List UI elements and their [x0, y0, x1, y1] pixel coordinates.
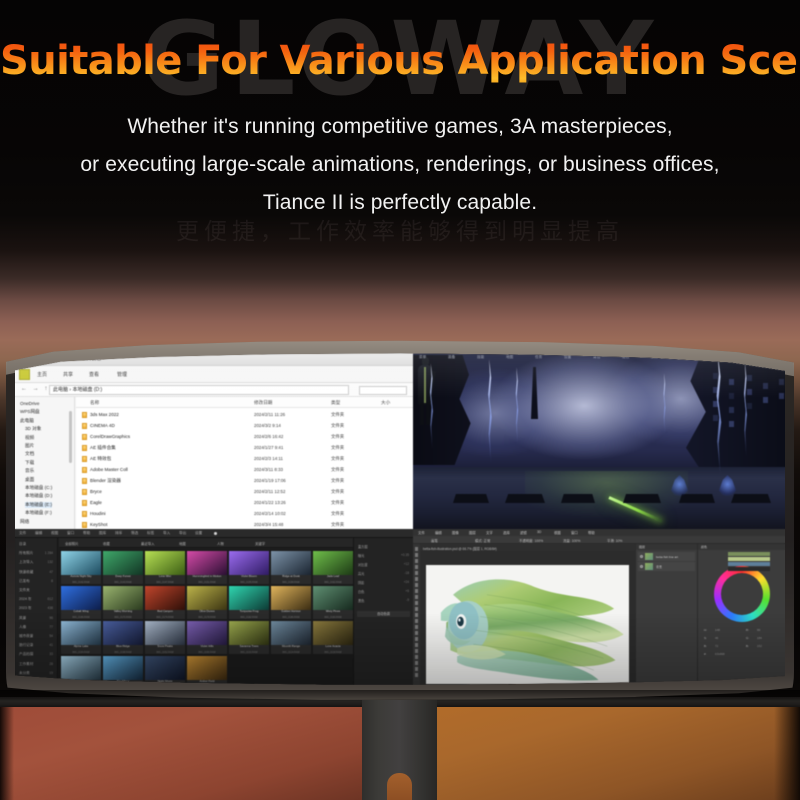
file-name: AE 插件合集	[90, 445, 116, 451]
color-panel[interactable]: 颜色 H:148S:46B:72R:99G:184B:152#:63b898	[697, 544, 785, 686]
thumbnail-filename: IMG_0166.RAW	[61, 616, 101, 619]
thumbnail-image	[187, 656, 227, 680]
media-sidebar-item-5[interactable]: 文件夹	[19, 588, 30, 593]
color-field-value-4[interactable]: 184	[757, 636, 762, 640]
list-item[interactable]: Deep ForestIMG_0143.RAW	[103, 551, 143, 584]
list-item[interactable]: Savanna TreesIMG_0210.RAW	[229, 621, 269, 654]
media-sidebar-item-2[interactable]: 上次导入	[19, 560, 33, 565]
building-window	[713, 373, 718, 379]
editor-menu-item-10[interactable]: 帮助	[588, 530, 595, 535]
tool-icon-2[interactable]	[415, 559, 419, 563]
color-slider-0[interactable]	[728, 552, 770, 556]
layers-panel[interactable]: 图层 betta fish line art背景	[635, 544, 697, 686]
color-slider-3[interactable]	[728, 567, 770, 571]
tool-icon-3[interactable]	[415, 565, 419, 569]
media-sidebar-item-3[interactable]: 快速收藏	[19, 570, 33, 575]
media-sidebar-item-14[interactable]: 未分类	[19, 671, 30, 676]
thumbnail-image	[145, 656, 185, 680]
tool-icon-9[interactable]	[415, 601, 419, 605]
table-row[interactable]: 3ds Max 20222024/2/11 11:26文件夹	[76, 409, 413, 420]
thumbnail-filename: IMG_0182.RAW	[229, 616, 269, 619]
file-date: 2024/2/6 16:42	[254, 434, 283, 439]
thumbnail-caption: Aurora Night Sky	[62, 575, 100, 578]
media-menu-item-0[interactable]: 文件	[19, 531, 26, 536]
editor-document-tab[interactable]: betta-fish-illustration.psd @ 66.7% (图层 …	[419, 544, 635, 551]
editor-option-2[interactable]: 不透明度: 100%	[519, 538, 543, 543]
thumbnail-image	[145, 551, 185, 575]
folder-icon	[82, 456, 87, 462]
media-sidebar-item-10[interactable]: 城市夜景	[19, 634, 33, 639]
color-field-value-0[interactable]: 148	[715, 628, 720, 632]
sidebar-item-6[interactable]: 文档	[25, 451, 34, 457]
auto-tone-button[interactable]: 自动色调	[357, 611, 410, 617]
thumbnail-filename: IMG_0142.RAW	[61, 581, 101, 584]
building-window	[763, 397, 768, 403]
explorer-ribbon[interactable]: 主页 共享 查看 管理	[15, 366, 413, 383]
list-item[interactable]: Lime MistIMG_0147.RAW	[145, 551, 185, 584]
tool-icon-15[interactable]	[415, 637, 419, 641]
media-sidebar-count-14: 19	[49, 671, 53, 675]
explorer-sidebar-scrollbar[interactable]	[69, 411, 72, 463]
file-name: Houdini	[90, 511, 106, 516]
editor-toolbar[interactable]	[413, 544, 420, 686]
list-item[interactable]: Lone AcaciaIMG_0218.RAW	[313, 621, 353, 654]
tool-icon-21[interactable]	[415, 673, 419, 677]
sidebar-item-9[interactable]: 桌面	[25, 477, 34, 483]
editor-menu-item-6[interactable]: 滤镜	[520, 530, 527, 535]
adjust-label-5: 白色	[358, 589, 364, 594]
game-menu-item-3[interactable]: 地图	[506, 355, 513, 360]
media-sidebar-item-12[interactable]: 产品拍摄	[19, 652, 33, 657]
thumbnail-filename: IMG_0158.RAW	[271, 581, 311, 584]
color-panel-header: 颜色	[698, 544, 785, 550]
ground-barrier	[561, 494, 595, 503]
media-toolbar-btn-1[interactable]: 收藏	[103, 541, 110, 546]
tool-icon-12[interactable]	[415, 619, 419, 623]
media-menu-item-5[interactable]: 图库	[99, 531, 106, 536]
column-size[interactable]: 大小	[381, 400, 390, 406]
media-sidebar-item-9[interactable]: 人像	[19, 625, 26, 630]
table-row[interactable]: CINEMA 4D2024/3/2 9:14文件夹	[76, 420, 413, 431]
column-type[interactable]: 类型	[331, 400, 340, 406]
building-window	[729, 379, 734, 385]
list-item[interactable]: Night ShoreIMG_0230.RAW	[145, 656, 185, 686]
color-field-value-2[interactable]: 72	[715, 644, 718, 648]
wall-lower-right	[437, 700, 800, 800]
explorer-file-menu-icon[interactable]	[19, 369, 30, 380]
thumbnail-image	[103, 621, 143, 645]
table-row[interactable]: Bryce2024/2/11 12:52文件夹	[76, 486, 413, 497]
file-date: 2024/2/11 11:26	[254, 412, 285, 417]
table-row[interactable]: CorelDrawGraphics2024/2/6 16:42文件夹	[76, 431, 413, 442]
media-menu-item-11[interactable]: 设置	[195, 531, 202, 536]
editor-menu-item-9[interactable]: 窗口	[571, 530, 578, 535]
media-menu-item-6[interactable]: 排序	[115, 531, 122, 536]
file-date: 2024/2/14 10:02	[254, 511, 286, 516]
media-sidebar-count-10: 54	[49, 634, 53, 638]
list-item[interactable]: Moonlit RangeIMG_0214.RAW	[271, 621, 311, 654]
layer-thumbnail	[645, 553, 653, 560]
game-window[interactable]: 菜单装备技能地图任务设置背包角色队伍商店系统退出	[413, 353, 785, 529]
media-sidebar-count-2: 132	[47, 560, 53, 564]
thumbnail-image	[271, 586, 311, 610]
thumbnail-image	[229, 621, 269, 645]
game-menu-item-4[interactable]: 任务	[535, 355, 542, 360]
sidebar-item-2[interactable]: 此电脑	[20, 418, 34, 424]
list-item[interactable]: Hummingbird in MotionIMG_0151.RAW	[187, 551, 227, 584]
media-menubar[interactable]: 文件编辑视图窗口帮助图库排序筛选标签导入导出设置	[15, 529, 413, 538]
tool-icon-17[interactable]	[415, 649, 419, 653]
game-ground-glow	[525, 471, 689, 529]
color-slider-1[interactable]	[728, 557, 770, 561]
layer-name: 背景	[656, 565, 662, 569]
layer-row[interactable]: 背景	[638, 562, 695, 571]
media-menu-item-7[interactable]: 筛选	[131, 531, 138, 536]
file-date: 2024/1/19 17:06	[254, 478, 286, 483]
ribbon-tab-1[interactable]: 共享	[63, 371, 73, 378]
tool-icon-7[interactable]	[415, 589, 419, 593]
editor-menubar[interactable]: 文件编辑图像图层文字选择滤镜3D视图窗口帮助	[413, 529, 785, 536]
media-thumbnail-grid[interactable]: Aurora Night SkyIMG_0142.RAWDeep ForestI…	[59, 549, 353, 686]
table-row[interactable]: AE 特效包2024/2/3 14:11文件夹	[76, 453, 413, 464]
file-type: 文件夹	[331, 489, 344, 495]
table-row[interactable]: KeyShot2024/3/4 15:48文件夹	[76, 519, 413, 529]
list-item[interactable]: Amber FieldIMG_0234.RAW	[187, 656, 227, 686]
file-name: Blender 渲染器	[90, 478, 121, 484]
thumbnail-image	[271, 551, 311, 575]
list-item[interactable]: Olive DunesIMG_0178.RAW	[187, 586, 227, 619]
tool-icon-4[interactable]	[415, 571, 419, 575]
list-item[interactable]: Red CanyonIMG_0174.RAW	[145, 586, 185, 619]
adjust-value-5: +6	[405, 589, 409, 593]
layers-panel-header: 图层	[636, 544, 697, 550]
media-sidebar-item-0[interactable]: 目录	[19, 542, 26, 547]
color-field-value-6[interactable]: 63b898	[715, 652, 725, 656]
thumbnail-image	[145, 621, 185, 645]
media-sidebar-count-7: 438	[47, 606, 53, 610]
file-name: KeyShot	[90, 522, 107, 527]
file-name: Eagle	[90, 500, 102, 505]
tool-icon-16[interactable]	[415, 643, 419, 647]
media-sidebar-item-13[interactable]: 工作素材	[19, 662, 33, 667]
editor-option-1[interactable]: 模式: 正常	[475, 538, 490, 543]
tool-icon-14[interactable]	[415, 631, 419, 635]
tool-icon-13[interactable]	[415, 625, 419, 629]
list-item[interactable]: Alpine LakeIMG_0194.RAW	[61, 621, 101, 654]
folder-icon	[82, 489, 87, 495]
table-row[interactable]: AE 插件合集2024/1/27 9:41文件夹	[76, 442, 413, 453]
list-item[interactable]: Aurora Night SkyIMG_0142.RAW	[61, 551, 101, 584]
thumbnail-caption: Violet Hills	[188, 645, 226, 648]
sidebar-item-11[interactable]: 本地磁盘 (D:)	[25, 493, 52, 499]
layer-visibility-icon[interactable]	[640, 555, 643, 558]
tool-icon-10[interactable]	[415, 607, 419, 611]
page-subtitle: Whether it's running competitive games, …	[0, 108, 800, 222]
color-slider-2[interactable]	[728, 562, 770, 566]
sidebar-item-3[interactable]: 3D 对象	[25, 426, 41, 432]
building-window	[779, 393, 784, 399]
table-row[interactable]: Blender 渲染器2024/1/19 17:06文件夹	[76, 475, 413, 486]
editor-option-0[interactable]: 画笔	[431, 538, 438, 543]
list-item[interactable]: Ridge at DuskIMG_0158.RAW	[271, 551, 311, 584]
adjust-value-2: +12	[404, 562, 409, 566]
media-sidebar[interactable]: 目录所有照片1 284上次导入132快速收藏47已发布8文件夹2024 年612…	[15, 538, 58, 686]
layer-row[interactable]: betta fish line art	[638, 552, 695, 561]
file-type: 文件夹	[331, 423, 344, 429]
thumbnail-caption: Golden Horizon	[272, 610, 310, 613]
editor-menu-item-7[interactable]: 3D	[537, 530, 541, 534]
thumbnail-image	[313, 621, 353, 645]
file-type: 文件夹	[331, 434, 344, 440]
file-type: 文件夹	[331, 412, 344, 418]
list-item[interactable]: Misty PinesIMG_0190.RAW	[313, 586, 353, 619]
table-row[interactable]: Adobe Master Coll2024/3/11 8:33文件夹	[76, 464, 413, 475]
tool-icon-19[interactable]	[415, 661, 419, 665]
media-toolbar-btn-4[interactable]: 人物	[217, 541, 224, 546]
media-sidebar-item-7[interactable]: 2023 年	[19, 606, 32, 611]
media-adjust-panel[interactable]: 直方图曝光+0.35对比度+12高光-18阴影+24白色+6黑色-9自动色调	[353, 538, 413, 686]
file-name: AE 特效包	[90, 456, 111, 462]
thumbnail-caption: Jade Leaf	[314, 575, 352, 578]
media-toolbar-btn-2[interactable]: 最近导入	[141, 541, 155, 546]
explorer-column-headers[interactable]: 名称 修改日期 类型 大小	[76, 397, 413, 408]
media-sidebar-count-9: 77	[49, 625, 53, 629]
folder-icon	[82, 500, 87, 506]
thumbnail-filename: IMG_0186.RAW	[271, 616, 311, 619]
file-type: 文件夹	[331, 445, 344, 451]
list-item[interactable]: Golden HorizonIMG_0186.RAW	[271, 586, 311, 619]
media-sidebar-item-4[interactable]: 已发布	[19, 579, 30, 584]
curved-ultrawide-monitor: 此电脑 > 本地磁盘 (D:) > 软件安装包 主页 共享 查看 管理 ← → …	[6, 340, 794, 702]
file-explorer-window[interactable]: 此电脑 > 本地磁盘 (D:) > 软件安装包 主页 共享 查看 管理 ← → …	[15, 353, 413, 529]
editor-menu-item-4[interactable]: 文字	[486, 530, 493, 535]
editor-option-4[interactable]: 平滑: 10%	[607, 538, 622, 543]
media-sidebar-count-13: 28	[49, 662, 53, 666]
media-toolbar-btn-0[interactable]: 全部照片	[65, 541, 79, 546]
tool-icon-6[interactable]	[415, 583, 419, 587]
list-item[interactable]: Jade LeafIMG_0162.RAW	[313, 551, 353, 584]
color-triangle-icon[interactable]	[726, 577, 756, 611]
column-date[interactable]: 修改日期	[254, 400, 272, 406]
media-sidebar-item-8[interactable]: 风景	[19, 616, 26, 621]
list-item[interactable]: Turquoise FrogIMG_0182.RAW	[229, 586, 269, 619]
breadcrumb[interactable]: 此电脑 › 本地磁盘 (D:)	[53, 386, 102, 393]
folder-icon	[82, 412, 87, 418]
sidebar-item-13[interactable]: 本地磁盘 (F:)	[25, 510, 52, 516]
media-menu-item-9[interactable]: 导入	[163, 531, 170, 536]
file-name: Adobe Master Coll	[90, 467, 128, 472]
thumbnail-image	[187, 551, 227, 575]
wall-lower-left	[0, 700, 362, 800]
color-wheel-icon[interactable]	[714, 566, 770, 622]
list-item[interactable]: Blue RidgeIMG_0198.RAW	[103, 621, 143, 654]
tool-icon-20[interactable]	[415, 667, 419, 671]
folder-icon	[82, 445, 87, 451]
thumbnail-caption: Turquoise Frog	[230, 610, 268, 613]
sidebar-item-0[interactable]: OneDrive	[20, 401, 39, 406]
folder-icon	[82, 478, 87, 484]
explorer-nav-buttons[interactable]: ← → ↑	[21, 386, 49, 392]
thumbnail-filename: IMG_0202.RAW	[145, 651, 185, 654]
thumbnail-image	[313, 551, 353, 575]
file-date: 2024/1/27 9:41	[254, 445, 283, 450]
media-menu-item-8[interactable]: 标签	[147, 531, 154, 536]
thumbnail-filename: IMG_0162.RAW	[313, 581, 353, 584]
building-window	[713, 401, 718, 407]
list-item[interactable]: Valley MorningIMG_0170.RAW	[103, 586, 143, 619]
media-sidebar-item-1[interactable]: 所有照片	[19, 551, 33, 556]
file-name: CorelDrawGraphics	[90, 434, 130, 439]
list-item[interactable]: Violet HillsIMG_0206.RAW	[187, 621, 227, 654]
thumbnail-caption: Valley Morning	[104, 610, 142, 613]
color-field-label-5: B:	[746, 644, 749, 648]
sidebar-item-1[interactable]: WPS网盘	[20, 409, 40, 415]
list-item[interactable]: Snow PeaksIMG_0202.RAW	[145, 621, 185, 654]
thumbnail-image	[103, 551, 143, 575]
thumbnail-caption: Red Canyon	[146, 610, 184, 613]
sidebar-item-14[interactable]: 网络	[20, 519, 29, 525]
list-item[interactable]: Violet BloomIMG_0155.RAW	[229, 551, 269, 584]
thumbnail-filename: IMG_0218.RAW	[313, 651, 353, 654]
editor-menu-item-5[interactable]: 选择	[503, 530, 510, 535]
thumbnail-caption: Ridge at Dusk	[272, 575, 310, 578]
search-input[interactable]	[359, 386, 407, 395]
media-library-window[interactable]: 文件编辑视图窗口帮助图库排序筛选标签导入导出设置 目录所有照片1 284上次导入…	[15, 529, 413, 686]
editor-menu-item-2[interactable]: 图像	[452, 530, 459, 535]
file-date: 2024/3/2 9:14	[254, 423, 281, 428]
ghost-chinese-text: 更便捷，工作效率能够得到明显提高	[0, 212, 800, 246]
stand-cable-hole	[387, 773, 412, 800]
media-sidebar-count-12: 33	[49, 652, 53, 656]
layer-visibility-icon[interactable]	[640, 565, 643, 568]
color-field-label-4: G:	[746, 636, 749, 640]
betta-fish-artwork	[426, 565, 629, 684]
ribbon-tab-0[interactable]: 主页	[37, 371, 47, 378]
building-window	[729, 407, 734, 413]
table-row[interactable]: Eagle2024/1/22 13:26文件夹	[76, 497, 413, 508]
list-item[interactable]: Cobalt WingIMG_0166.RAW	[61, 586, 101, 619]
media-menu-item-1[interactable]: 编辑	[35, 531, 42, 536]
folder-icon	[82, 434, 87, 440]
ribbon-tab-2[interactable]: 查看	[89, 371, 99, 378]
thumbnail-image	[145, 586, 185, 610]
game-menu-item-0[interactable]: 菜单	[419, 355, 426, 360]
thumbnail-filename: IMG_0147.RAW	[145, 581, 185, 584]
table-row[interactable]: Houdini2024/2/14 10:02文件夹	[76, 508, 413, 519]
media-sidebar-item-11[interactable]: 旅行记录	[19, 643, 33, 648]
media-toolbar-btn-3[interactable]: 地图	[179, 541, 186, 546]
editor-options-bar[interactable]: 画笔模式: 正常不透明度: 100%流量: 100%平滑: 10%	[413, 536, 785, 544]
thumbnail-filename: IMG_0210.RAW	[229, 651, 269, 654]
media-menu-item-3[interactable]: 窗口	[67, 531, 74, 536]
thumbnail-image	[61, 656, 101, 680]
thumbnail-image	[271, 621, 311, 645]
editor-canvas-area[interactable]	[420, 551, 635, 686]
file-date: 2024/2/3 14:11	[254, 456, 283, 461]
layers-panel-title: 图层	[639, 545, 645, 549]
color-field-label-2: B:	[704, 644, 707, 648]
thumbnail-caption: Savanna Trees	[230, 645, 268, 648]
media-sidebar-count-3: 47	[49, 570, 53, 574]
media-toolbar-btn-5[interactable]: 关键字	[255, 541, 265, 546]
tool-icon-11[interactable]	[415, 613, 419, 617]
color-field-value-1[interactable]: 46	[715, 636, 718, 640]
file-name: CINEMA 4D	[90, 423, 115, 428]
thumbnail-image	[103, 656, 143, 680]
thumbnail-filename: IMG_0151.RAW	[187, 581, 227, 584]
thumbnail-image	[229, 551, 269, 575]
thumbnail-caption: Violet Bloom	[230, 575, 268, 578]
explorer-sidebar[interactable]: OneDriveWPS网盘此电脑3D 对象视频图片文档下载音乐桌面本地磁盘 (C…	[15, 397, 75, 529]
tool-icon-8[interactable]	[415, 595, 419, 599]
thumbnail-image	[103, 586, 143, 610]
explorer-file-list[interactable]: 名称 修改日期 类型 大小 3ds Max 20222024/2/11 11:2…	[76, 397, 413, 529]
sidebar-item-4[interactable]: 视频	[25, 435, 34, 441]
editor-menu-item-1[interactable]: 编辑	[435, 530, 442, 535]
sidebar-item-12[interactable]: 本地磁盘 (E:)	[25, 502, 52, 508]
media-menu-item-10[interactable]: 导出	[179, 531, 186, 536]
building-window	[779, 379, 784, 385]
editor-menu-item-0[interactable]: 文件	[418, 530, 425, 535]
editor-menu-item-8[interactable]: 视图	[554, 530, 561, 535]
media-menu-item-2[interactable]: 视图	[51, 531, 58, 536]
ground-barrier	[731, 494, 771, 503]
image-editor-window[interactable]: 文件编辑图像图层文字选择滤镜3D视图窗口帮助 画笔模式: 正常不透明度: 100…	[413, 529, 785, 686]
tool-icon-18[interactable]	[415, 655, 419, 659]
building-window	[729, 393, 734, 399]
editor-menu-item-3[interactable]: 图层	[469, 530, 476, 535]
ribbon-tab-3[interactable]: 管理	[117, 371, 127, 378]
media-menu-item-4[interactable]: 帮助	[83, 531, 90, 536]
color-field-label-6: #:	[704, 652, 706, 656]
ground-barrier	[623, 494, 661, 503]
thumbnail-caption: Deep Forest	[104, 575, 142, 578]
editor-canvas[interactable]	[426, 565, 629, 684]
explorer-address-bar[interactable]: ← → ↑ 此电脑 › 本地磁盘 (D:)	[15, 383, 413, 397]
file-type: 文件夹	[331, 456, 344, 462]
thumbnail-filename: IMG_0143.RAW	[103, 581, 143, 584]
adjust-label-6: 黑色	[358, 598, 364, 603]
game-menu-item-2[interactable]: 技能	[477, 355, 484, 360]
file-date: 2024/3/4 15:48	[254, 522, 283, 527]
color-field-value-5[interactable]: 152	[757, 644, 762, 648]
color-field-value-3[interactable]: 99	[757, 628, 760, 632]
thumbnail-image	[187, 621, 227, 645]
sidebar-item-10[interactable]: 本地磁盘 (C:)	[25, 485, 52, 491]
column-name[interactable]: 名称	[90, 400, 99, 406]
game-enemy	[671, 475, 688, 497]
thumbnail-caption: Alpine Lake	[62, 645, 100, 648]
sidebar-item-7[interactable]: 下载	[25, 460, 34, 466]
editor-option-3[interactable]: 流量: 100%	[563, 538, 580, 543]
file-date: 2024/1/22 13:26	[254, 500, 286, 505]
thumbnail-filename: IMG_0174.RAW	[145, 616, 185, 619]
ground-barrier	[453, 494, 489, 503]
thumbnail-filename: IMG_0170.RAW	[103, 616, 143, 619]
adjust-value-3: -18	[404, 571, 409, 575]
folder-icon	[82, 423, 87, 429]
media-sidebar-count-8: 96	[49, 616, 53, 620]
folder-icon	[82, 511, 87, 517]
media-sidebar-item-6[interactable]: 2024 年	[19, 597, 32, 602]
sidebar-item-8[interactable]: 音乐	[25, 468, 34, 474]
game-menu-item-1[interactable]: 装备	[448, 355, 455, 360]
sidebar-item-5[interactable]: 图片	[25, 443, 34, 449]
tool-icon-0[interactable]	[415, 547, 419, 551]
tool-icon-1[interactable]	[415, 553, 419, 557]
tool-icon-5[interactable]	[415, 577, 419, 581]
thumbnail-image	[61, 586, 101, 610]
